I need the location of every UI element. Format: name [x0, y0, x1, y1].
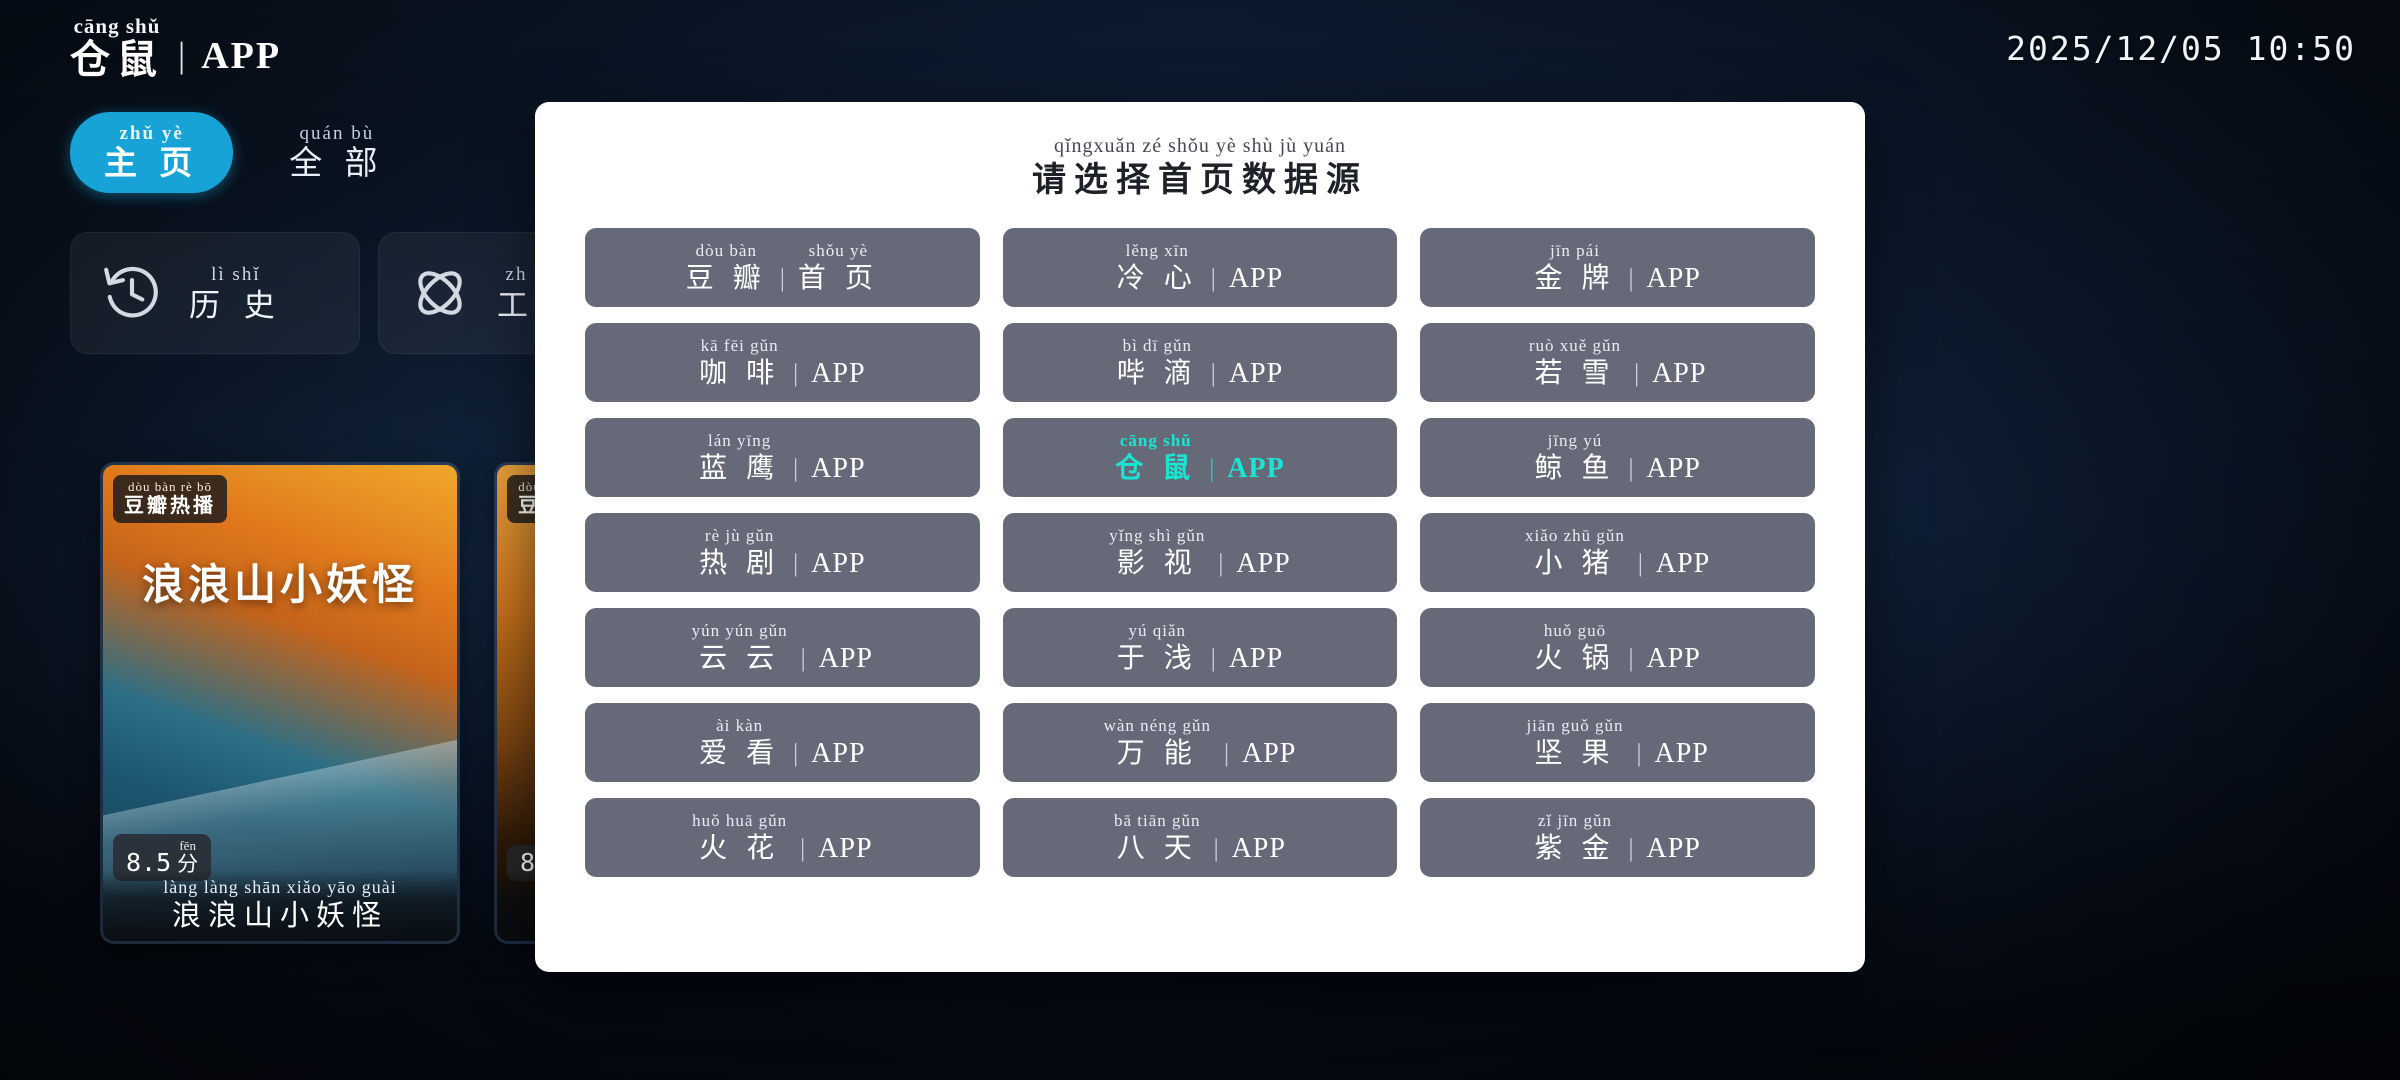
source-option-separator: | [1214, 836, 1219, 861]
source-option-left-pinyin: yún yún gǔn [692, 622, 788, 639]
source-option-right-label: APP [1646, 455, 1700, 483]
source-option-left: bā tiān gǔn八 天 [1114, 812, 1201, 863]
source-option-left-label: 于 浅 [1117, 645, 1198, 673]
source-option-left-pinyin: jīn pái [1550, 242, 1600, 259]
source-option-right: xAPP [1646, 242, 1700, 293]
source-option-right-label: APP [811, 550, 865, 578]
source-option-left: huǒ guō火 锅 [1534, 622, 1615, 673]
source-option-separator: | [780, 266, 785, 291]
source-option-left-label: 鲸 鱼 [1534, 455, 1615, 483]
source-option-left: xiǎo zhū gǔn小 猪 [1525, 527, 1625, 578]
source-option-right-label: APP [811, 455, 865, 483]
source-option-15[interactable]: ài kàn爱 看|xAPP [585, 703, 980, 782]
source-option-left-pinyin: ruò xuě gǔn [1529, 337, 1621, 354]
source-option-separator: | [1628, 266, 1633, 291]
source-option-right: xAPP [811, 527, 865, 578]
source-option-left: kā fēi gǔn咖 啡 [699, 337, 780, 388]
modal-overlay: qǐngxuǎn zé shǒu yè shù jù yuán 请选择首页数据源… [0, 0, 2400, 1080]
source-option-right: xAPP [811, 337, 865, 388]
source-option-left-pinyin: bì dī gǔn [1123, 337, 1192, 354]
source-option-left-pinyin: ài kàn [716, 717, 763, 734]
source-option-right-label: APP [818, 835, 872, 863]
source-option-left: bì dī gǔn哔 滴 [1117, 337, 1198, 388]
source-option-right-label: APP [1646, 265, 1700, 293]
source-option-left-label: 爱 看 [699, 740, 780, 768]
source-option-2[interactable]: jīn pái金 牌|xAPP [1420, 228, 1815, 307]
source-option-right-label: APP [1236, 550, 1290, 578]
source-option-separator: | [793, 456, 798, 481]
source-option-right: xAPP [1229, 242, 1283, 293]
app-root: cāng shǔ 仓鼠 | APP 2025/12/05 10:50 zhǔ y… [0, 0, 2400, 1080]
source-option-left: jīng yú鲸 鱼 [1534, 432, 1615, 483]
source-option-right-label: APP [1654, 740, 1708, 768]
source-option-left-pinyin: yǐng shì gǔn [1109, 527, 1205, 544]
source-option-left-pinyin: yú qiǎn [1129, 622, 1187, 639]
source-option-13[interactable]: yú qiǎn于 浅|xAPP [1003, 608, 1398, 687]
source-option-left-label: 火 锅 [1534, 645, 1615, 673]
source-option-left-label: 热 剧 [699, 550, 780, 578]
source-option-separator: | [1638, 551, 1643, 576]
source-option-5[interactable]: ruò xuě gǔn若 雪|xAPP [1420, 323, 1815, 402]
source-option-1[interactable]: lěng xīn冷 心|xAPP [1003, 228, 1398, 307]
source-option-left-pinyin: bā tiān gǔn [1114, 812, 1201, 829]
source-option-left: yǐng shì gǔn影 视 [1109, 527, 1205, 578]
source-option-right: xAPP [1227, 432, 1284, 483]
source-option-right-label: APP [811, 740, 865, 768]
source-option-left: jīn pái金 牌 [1534, 242, 1615, 293]
source-option-3[interactable]: kā fēi gǔn咖 啡|xAPP [585, 323, 980, 402]
source-option-left-pinyin: huǒ guō [1544, 622, 1606, 639]
source-option-left-pinyin: zǐ jīn gǔn [1538, 812, 1612, 829]
source-option-left-label: 万 能 [1117, 740, 1198, 768]
source-option-right: xAPP [1229, 337, 1283, 388]
source-option-17[interactable]: jiān guǒ gǔn坚 果|xAPP [1420, 703, 1815, 782]
source-option-left: ruò xuě gǔn若 雪 [1529, 337, 1621, 388]
source-option-left-pinyin: wàn néng gǔn [1104, 717, 1211, 734]
dialog-title-label: 请选择首页数据源 [585, 164, 1815, 198]
source-option-left-label: 蓝 鹰 [699, 455, 780, 483]
source-option-left: yú qiǎn于 浅 [1117, 622, 1198, 673]
source-option-right-label: APP [1229, 360, 1283, 388]
source-option-left: yún yún gǔn云 云 [692, 622, 788, 673]
source-option-left-pinyin: jīng yú [1548, 432, 1603, 449]
source-option-separator: | [1224, 741, 1229, 766]
source-option-left: rè jù gǔn热 剧 [699, 527, 780, 578]
source-option-separator: | [1211, 361, 1216, 386]
source-option-0[interactable]: dòu bàn豆 瓣|shǒu yè首 页 [585, 228, 980, 307]
source-option-right-label: APP [1656, 550, 1710, 578]
source-option-right-label: 首 页 [798, 265, 879, 293]
source-option-left: cāng shǔ仓 鼠 [1115, 432, 1196, 483]
source-option-right: xAPP [1229, 622, 1283, 673]
source-option-left-label: 咖 啡 [699, 360, 780, 388]
source-option-right-label: APP [1652, 360, 1706, 388]
source-option-right-label: APP [819, 645, 873, 673]
source-option-left-label: 仓 鼠 [1115, 455, 1196, 483]
source-option-separator: | [800, 836, 805, 861]
source-option-left-label: 豆 瓣 [686, 265, 767, 293]
source-option-right: xAPP [818, 812, 872, 863]
source-option-left-pinyin: dòu bàn [696, 242, 757, 259]
source-option-8[interactable]: jīng yú鲸 鱼|xAPP [1420, 418, 1815, 497]
source-option-left: wàn néng gǔn万 能 [1104, 717, 1211, 768]
source-option-separator: | [1211, 646, 1216, 671]
source-option-separator: | [1209, 456, 1214, 481]
source-option-left: ài kàn爱 看 [699, 717, 780, 768]
source-option-separator: | [793, 741, 798, 766]
source-option-separator: | [1628, 836, 1633, 861]
source-option-left-pinyin: jiān guǒ gǔn [1526, 717, 1623, 734]
source-option-right-label: APP [1229, 265, 1283, 293]
source-option-right-label: APP [1227, 455, 1284, 483]
source-option-left-label: 坚 果 [1534, 740, 1615, 768]
source-option-right-label: APP [1242, 740, 1296, 768]
source-option-right: xAPP [1646, 622, 1700, 673]
source-option-18[interactable]: huǒ huā gǔn火 花|xAPP [585, 798, 980, 877]
source-option-separator: | [793, 551, 798, 576]
source-option-right: xAPP [811, 432, 865, 483]
source-option-separator: | [793, 361, 798, 386]
source-option-left-label: 若 雪 [1534, 360, 1615, 388]
data-source-dialog: qǐngxuǎn zé shǒu yè shù jù yuán 请选择首页数据源… [535, 102, 1865, 972]
source-option-left-label: 云 云 [699, 645, 780, 673]
source-option-right: xAPP [1646, 432, 1700, 483]
data-source-grid: dòu bàn豆 瓣|shǒu yè首 页lěng xīn冷 心|xAPPjīn… [585, 228, 1815, 877]
source-option-20[interactable]: zǐ jīn gǔn紫 金|xAPP [1420, 798, 1815, 877]
source-option-separator: | [801, 646, 806, 671]
source-option-left: huǒ huā gǔn火 花 [692, 812, 787, 863]
source-option-separator: | [1211, 266, 1216, 291]
source-option-left: lán yīng蓝 鹰 [699, 432, 780, 483]
source-option-separator: | [1218, 551, 1223, 576]
source-option-left: dòu bàn豆 瓣 [686, 242, 767, 293]
source-option-14[interactable]: huǒ guō火 锅|xAPP [1420, 608, 1815, 687]
source-option-left-label: 金 牌 [1534, 265, 1615, 293]
source-option-19[interactable]: bā tiān gǔn八 天|xAPP [1003, 798, 1398, 877]
source-option-left: lěng xīn冷 心 [1117, 242, 1198, 293]
source-option-6[interactable]: lán yīng蓝 鹰|xAPP [585, 418, 980, 497]
source-option-left-label: 紫 金 [1534, 835, 1615, 863]
source-option-left-label: 小 猪 [1534, 550, 1615, 578]
source-option-separator: | [1628, 646, 1633, 671]
source-option-7[interactable]: cāng shǔ仓 鼠|xAPP [1003, 418, 1398, 497]
source-option-right-label: APP [1646, 645, 1700, 673]
source-option-left: zǐ jīn gǔn紫 金 [1534, 812, 1615, 863]
source-option-right-label: APP [811, 360, 865, 388]
source-option-left-pinyin: lán yīng [708, 432, 771, 449]
source-option-16[interactable]: wàn néng gǔn万 能|xAPP [1003, 703, 1398, 782]
source-option-right: xAPP [1232, 812, 1286, 863]
source-option-9[interactable]: rè jù gǔn热 剧|xAPP [585, 513, 980, 592]
source-option-separator: | [1634, 361, 1639, 386]
source-option-left-label: 影 视 [1117, 550, 1198, 578]
source-option-left-label: 火 花 [699, 835, 780, 863]
source-option-right-label: APP [1646, 835, 1700, 863]
source-option-10[interactable]: yǐng shì gǔn影 视|xAPP [1003, 513, 1398, 592]
source-option-right-label: APP [1229, 645, 1283, 673]
source-option-right: xAPP [1656, 527, 1710, 578]
source-option-right: xAPP [1654, 717, 1708, 768]
dialog-title: qǐngxuǎn zé shǒu yè shù jù yuán 请选择首页数据源 [585, 136, 1815, 198]
source-option-right: xAPP [811, 717, 865, 768]
source-option-11[interactable]: xiǎo zhū gǔn小 猪|xAPP [1420, 513, 1815, 592]
source-option-left-pinyin: cāng shǔ [1120, 432, 1192, 449]
source-option-left: jiān guǒ gǔn坚 果 [1526, 717, 1623, 768]
dialog-title-pinyin: qǐngxuǎn zé shǒu yè shù jù yuán [585, 136, 1815, 156]
source-option-right: xAPP [1646, 812, 1700, 863]
source-option-left-pinyin: rè jù gǔn [705, 527, 774, 544]
source-option-right: xAPP [1236, 527, 1290, 578]
source-option-left-pinyin: kā fēi gǔn [701, 337, 779, 354]
source-option-right: shǒu yè首 页 [798, 242, 879, 293]
source-option-left-label: 冷 心 [1117, 265, 1198, 293]
source-option-separator: | [1628, 456, 1633, 481]
source-option-separator: | [1636, 741, 1641, 766]
source-option-left-pinyin: xiǎo zhū gǔn [1525, 527, 1625, 544]
source-option-right: xAPP [1242, 717, 1296, 768]
source-option-right: xAPP [819, 622, 873, 673]
source-option-12[interactable]: yún yún gǔn云 云|xAPP [585, 608, 980, 687]
source-option-left-label: 哔 滴 [1117, 360, 1198, 388]
source-option-right-label: APP [1232, 835, 1286, 863]
source-option-left-pinyin: huǒ huā gǔn [692, 812, 787, 829]
source-option-right: xAPP [1652, 337, 1706, 388]
source-option-4[interactable]: bì dī gǔn哔 滴|xAPP [1003, 323, 1398, 402]
source-option-left-pinyin: lěng xīn [1126, 242, 1189, 259]
source-option-right-pinyin: shǒu yè [809, 242, 868, 259]
source-option-left-label: 八 天 [1117, 835, 1198, 863]
